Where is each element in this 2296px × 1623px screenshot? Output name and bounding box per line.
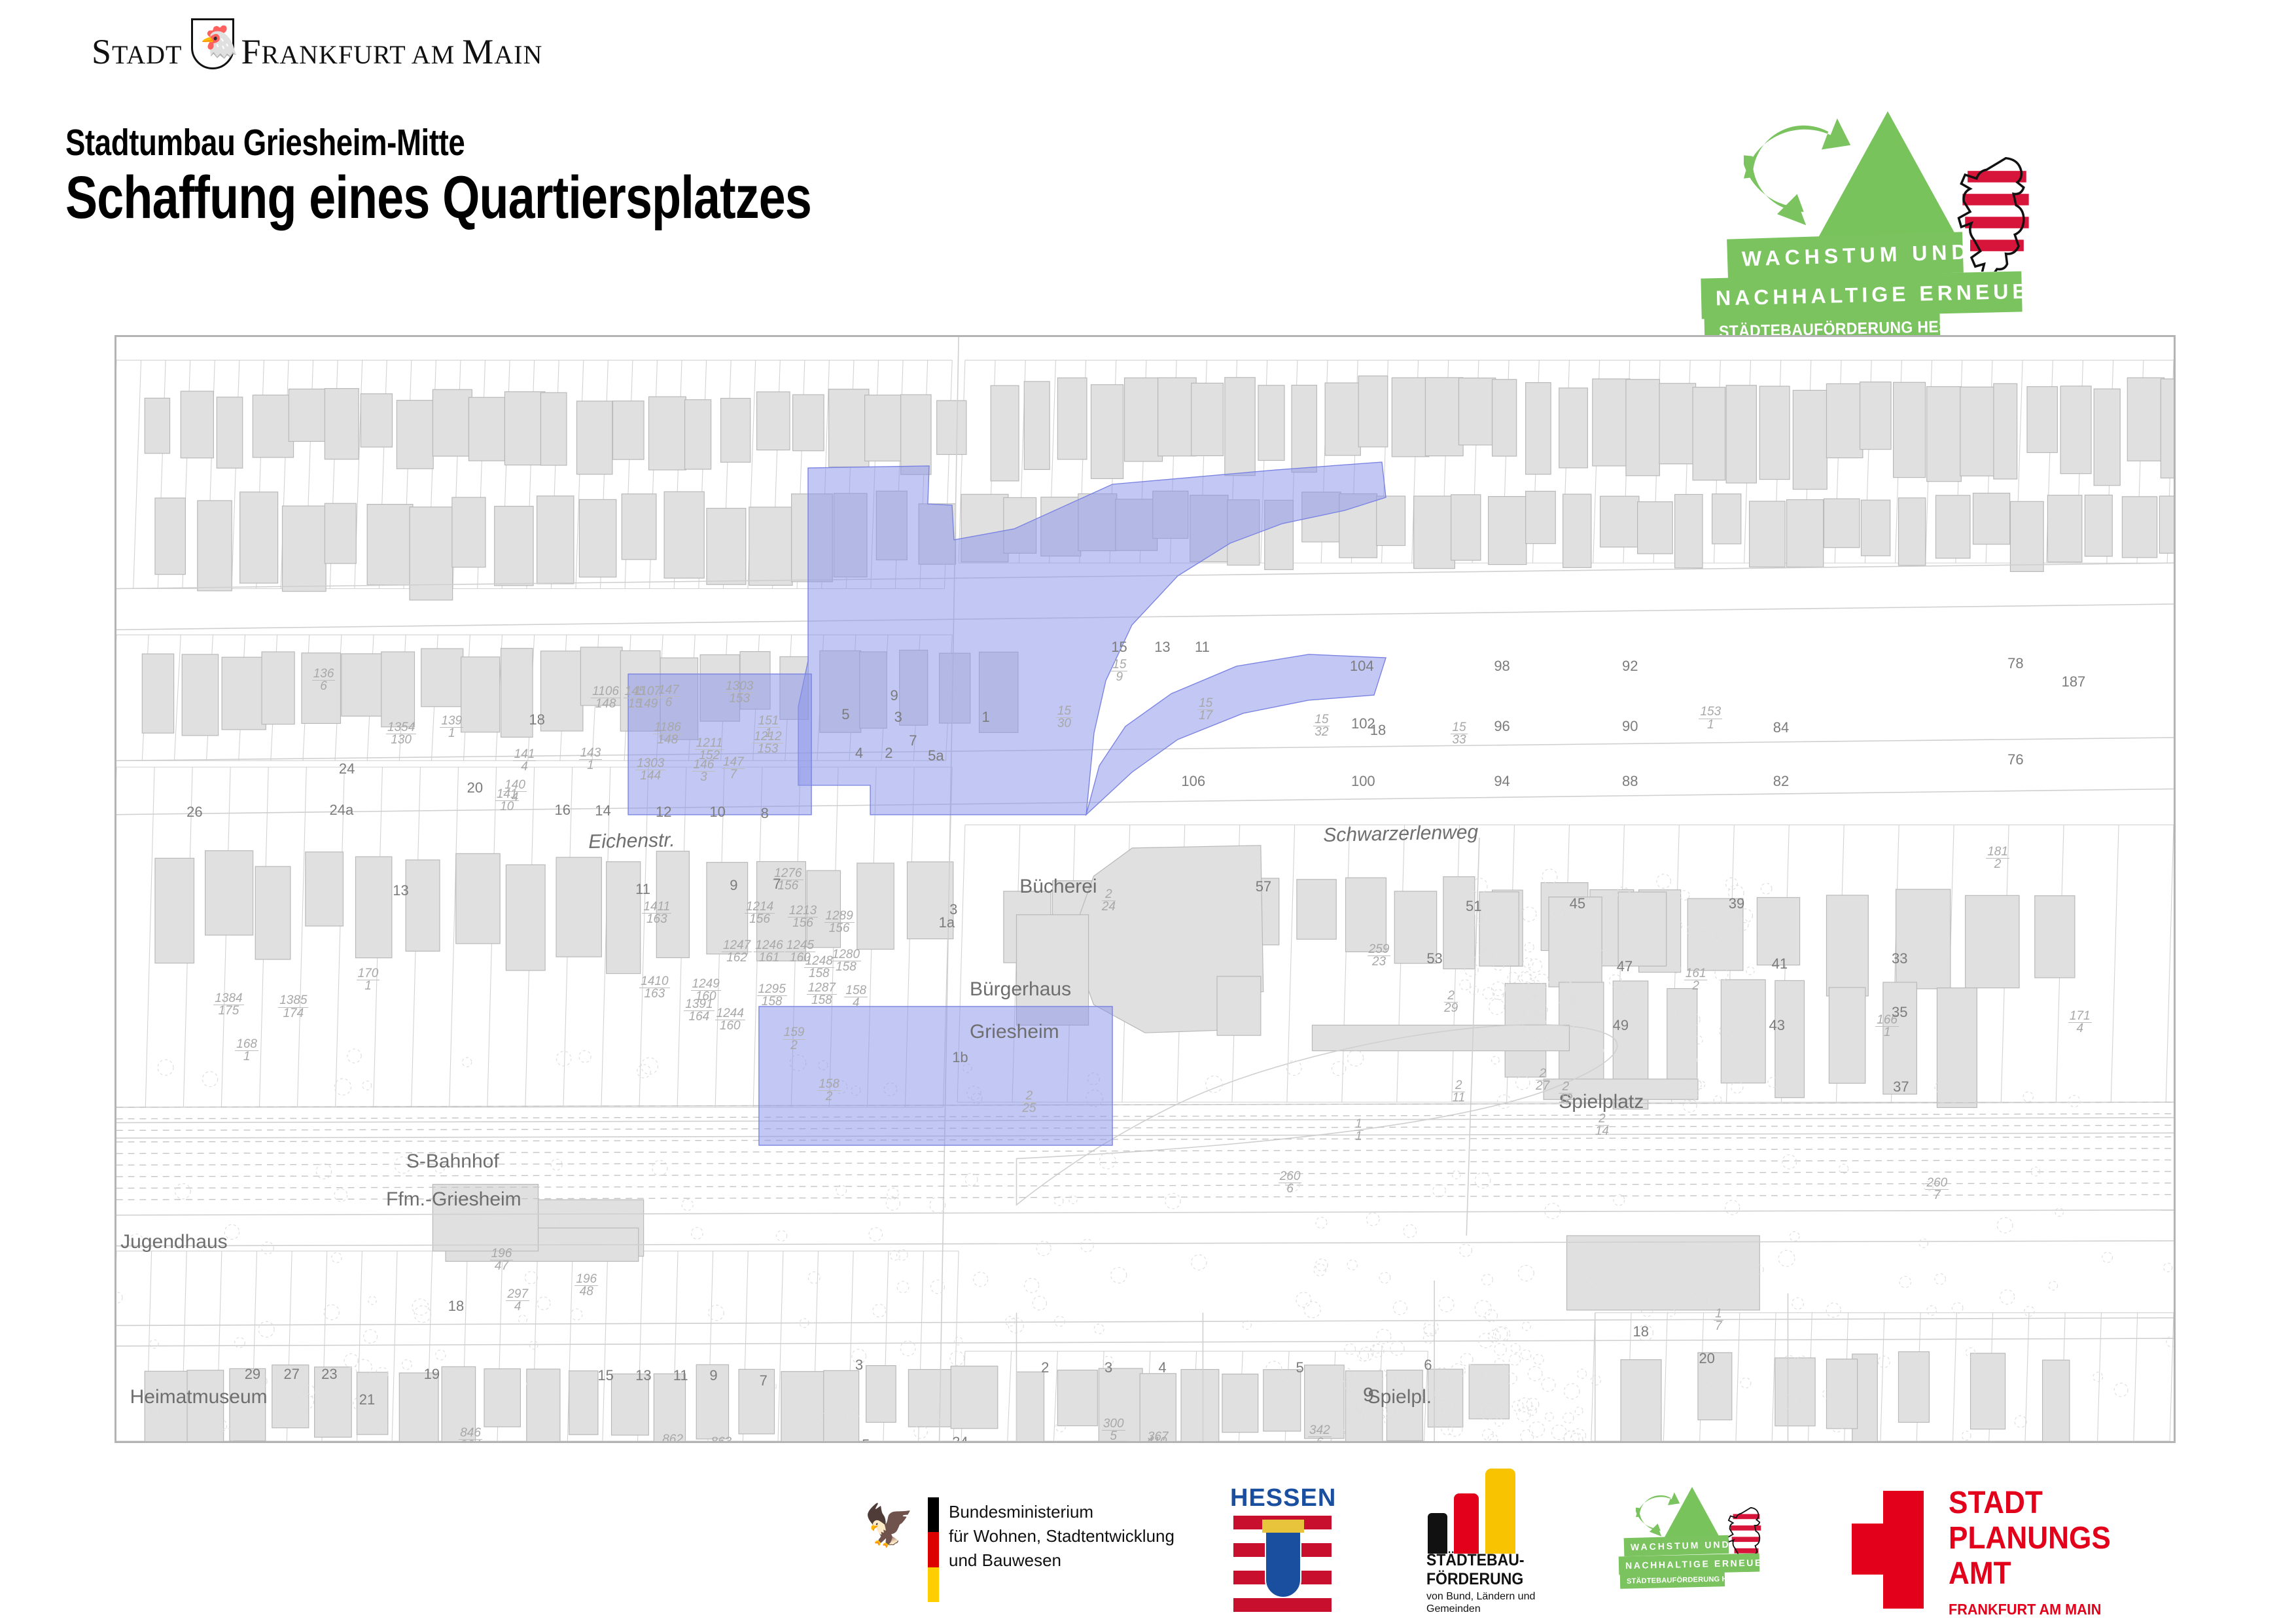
wune-small-line1: WACHSTUM UND	[1624, 1535, 1729, 1556]
house-number: 53	[1426, 950, 1442, 967]
house-number: 18	[1370, 722, 1386, 739]
parcel-number: 1391164	[684, 999, 714, 1023]
parcel-number: 1414	[513, 749, 537, 773]
hessen-label: HESSEN	[1230, 1486, 1335, 1510]
parcel-number: 1463	[692, 759, 716, 783]
parcel-number: 1476	[657, 685, 680, 709]
house-number: 4	[855, 745, 863, 762]
house-number: 6	[1424, 1357, 1432, 1374]
parcel-number: 1384175	[213, 993, 243, 1017]
parcel-number: 1533	[1451, 722, 1467, 746]
house-number: 92	[1622, 658, 1638, 675]
hessen-flag-icon	[1233, 1516, 1332, 1613]
parcel-number: 1411163	[642, 901, 671, 925]
parcel-number: 1280158	[831, 949, 861, 973]
parcel-number: 2607	[1926, 1177, 1949, 1202]
house-number: 187	[2062, 673, 2086, 690]
house-yellow-icon	[1485, 1469, 1515, 1554]
parcel-number: 1106148	[591, 686, 620, 710]
house-number: 26	[186, 804, 202, 821]
parcel-number: 3676	[1146, 1431, 1170, 1443]
parcel-number: 1107149	[633, 686, 662, 710]
cadastral-site-map[interactable]: Eichenstr.SchwarzerlenwegAm Gemeindegart…	[115, 335, 2176, 1443]
parcel-number: 1354130	[386, 722, 416, 746]
parcel-number: 1276156	[773, 868, 803, 892]
house-number: 11	[1195, 639, 1210, 656]
parcel-number: 1214156	[745, 901, 775, 925]
poi-label: Bürgerhaus	[970, 978, 1071, 1001]
poi-label: Ffm.-Griesheim	[386, 1188, 521, 1211]
house-number: 39	[1729, 895, 1744, 912]
house-number: 18	[448, 1298, 464, 1315]
house-number: 5	[841, 706, 849, 723]
parcel-number: 1582	[817, 1079, 841, 1103]
parcel-number: 19648	[574, 1274, 598, 1298]
house-number: 24a	[329, 802, 353, 819]
parcel-number: 862281	[661, 1434, 684, 1443]
parcel-number: 229	[1444, 990, 1458, 1014]
hessen-logo: HESSEN	[1230, 1486, 1335, 1616]
house-number: 3	[1104, 1359, 1112, 1376]
house-number: 82	[1773, 773, 1789, 790]
house-number: 21	[359, 1391, 375, 1408]
parcel-number: 1303144	[635, 758, 665, 782]
house-number: 41	[1772, 955, 1788, 972]
funding-logo-row: 🦅 Bundesministerium für Wohnen, Stadtent…	[0, 1486, 2296, 1623]
house-number: 4	[1158, 1359, 1166, 1376]
house-number: 43	[1769, 1017, 1785, 1034]
house-number: 9	[709, 1367, 717, 1384]
house-number: 15	[597, 1367, 613, 1384]
house-number: 23	[321, 1366, 337, 1383]
parcel-number: 1477	[722, 757, 745, 781]
parcel-number: 1248158	[804, 955, 834, 980]
house-number: 57	[1256, 878, 1271, 895]
parcel-number: 1530	[1056, 705, 1072, 730]
house-number: 18	[529, 711, 544, 728]
parcel-number: 1385174	[278, 995, 308, 1019]
house-number: 12	[656, 804, 671, 821]
wachstum-und-nachhaltige-erneuerung-badge: WACHSTUM UND NACHHALTIGE ERNEUERUNG STÄD…	[1708, 115, 2127, 298]
house-number: 94	[1494, 773, 1510, 790]
german-flag-bar-icon	[928, 1497, 939, 1602]
house-number: 7	[760, 1372, 768, 1389]
parcel-number: 14110	[495, 789, 519, 813]
house-number: 19	[424, 1366, 440, 1383]
parcel-number: 1245160	[785, 940, 815, 964]
parcel-number: 1186148	[653, 722, 682, 746]
parcel-number: 1661	[1875, 1014, 1899, 1039]
house-number: 1a	[939, 914, 955, 931]
parcel-number: 159	[1111, 659, 1127, 683]
poi-label: Heimatmuseum	[130, 1386, 268, 1408]
map-marker-9: 9	[1363, 1384, 1374, 1406]
poi-label: Jugendhaus	[120, 1231, 227, 1253]
parcel-number: 1295158	[757, 984, 787, 1008]
house-number: 51	[1466, 898, 1481, 915]
house-number: 47	[1617, 958, 1633, 975]
parcel-number: 3005	[1102, 1418, 1125, 1442]
house-number: 7	[909, 732, 917, 749]
parcel-number: 211	[1452, 1080, 1465, 1104]
house-number: 33	[1892, 950, 1907, 967]
poi-label: S-Bahnhof	[406, 1150, 499, 1173]
house-number: 34	[952, 1434, 968, 1443]
house-black-icon	[1428, 1513, 1447, 1554]
house-number: 98	[1494, 658, 1510, 675]
parcel-number: 1431	[579, 747, 603, 772]
parcel-number: 1511	[757, 715, 781, 740]
parcel-number: 1532	[1313, 714, 1330, 738]
parcel-number: 1701	[357, 968, 380, 992]
house-red-icon	[1454, 1493, 1479, 1554]
parcel-number: 1244160	[715, 1008, 745, 1032]
house-number: 1b	[952, 1049, 968, 1066]
parcel-number: 3426	[1308, 1425, 1332, 1443]
wune-small-line3: STÄDTEBAUFÖRDERUNG HESSEN	[1620, 1572, 1725, 1589]
wune-banner-line1: WACHSTUM UND	[1727, 232, 1964, 279]
stadtplanungsamt-text: STADT PLANUNGS AMT FRANKFURT AM MAIN	[1949, 1486, 2125, 1618]
parcel-number: 2606	[1279, 1171, 1302, 1195]
parcel-number: 1531	[1699, 706, 1722, 730]
parcel-number: 224	[1102, 889, 1116, 913]
house-number: 90	[1622, 718, 1638, 735]
parcel-number: 1246161	[754, 940, 784, 964]
house-number: 14	[595, 802, 610, 819]
house-number: 5	[1296, 1359, 1304, 1376]
house-number: 8	[761, 805, 769, 822]
parcel-number: 847266	[490, 1442, 514, 1443]
house-number: 84	[1773, 719, 1789, 736]
parcel-number: 2974	[506, 1289, 529, 1313]
staedtebau-subtitle: von Bund, Ländern und Gemeinden	[1426, 1590, 1535, 1615]
stadtplanungsamt-logo: STADT PLANUNGS AMT FRANKFURT AM MAIN	[1852, 1486, 2192, 1616]
house-number: 13	[1154, 639, 1170, 656]
poi-label: Spielplatz	[1559, 1091, 1644, 1113]
parcel-number: 1714	[2068, 1010, 2092, 1035]
parcel-number: 212	[1559, 1081, 1572, 1105]
parcel-number: 1211152	[695, 738, 724, 762]
city-logo-text: STADT FRANKFURT AM MAIN	[92, 31, 542, 72]
parcel-number: 11	[1354, 1118, 1364, 1143]
poi-label: Spielpl.	[1368, 1386, 1432, 1408]
house-number: 37	[1893, 1079, 1909, 1096]
parcel-number: 1517	[1197, 698, 1214, 722]
page-title: Schaffung eines Quartiersplatzes	[65, 164, 811, 232]
parcel-number: 1303153	[724, 681, 754, 705]
house-number: 24	[339, 760, 355, 777]
poi-label: Griesheim	[970, 1021, 1059, 1043]
parcel-number: 1584	[844, 985, 868, 1009]
parcel-number: 863283	[709, 1436, 733, 1443]
parcel-number: 4105	[1145, 1436, 1169, 1443]
house-number: 106	[1181, 773, 1205, 790]
parcel-number: 214	[1595, 1113, 1609, 1137]
house-number: 96	[1494, 718, 1510, 735]
house-number: 11	[635, 881, 650, 898]
staedtebau-title: STÄDTEBAU- FÖRDERUNG	[1426, 1551, 1525, 1589]
parcel-number: 227	[1536, 1068, 1549, 1092]
wune-small-logo: WACHSTUM UND NACHHALTIGE ERNEUERUNG STÄD…	[1629, 1486, 1819, 1616]
house-number: 100	[1351, 773, 1375, 790]
parcel-number: 1212153	[752, 731, 783, 755]
house-number: 1	[982, 709, 990, 726]
house-number: 10	[709, 804, 725, 821]
house-number: 102	[1351, 715, 1375, 732]
parcel-number: 19647	[490, 1248, 514, 1272]
house-number: 78	[2007, 655, 2023, 672]
parcel-number: 1213156	[788, 905, 818, 929]
house-number: 16	[555, 802, 571, 819]
house-number: 2	[885, 745, 892, 762]
house-number: 15	[1111, 639, 1127, 656]
house-number: 20	[467, 779, 483, 796]
house-number: 88	[1622, 773, 1638, 790]
parcel-number: 1249160	[691, 978, 721, 1003]
house-number: 3	[855, 1357, 863, 1374]
parcel-number: 17	[1714, 1308, 1723, 1332]
house-number: 13	[635, 1367, 651, 1384]
street-label: Eichenstr.	[588, 829, 675, 853]
stadtplanungsamt-mark-icon	[1852, 1491, 1924, 1609]
parcel-number: 25923	[1368, 944, 1391, 968]
parcel-number: 1681	[235, 1039, 258, 1063]
parcel-number: 1391	[440, 715, 463, 740]
house-number: 29	[245, 1366, 260, 1383]
parcel-number: 1404	[503, 779, 527, 804]
staedtebaufoerderung-logo: STÄDTEBAU- FÖRDERUNG von Bund, Ländern u…	[1413, 1486, 1597, 1616]
house-number: 5	[862, 1436, 870, 1443]
house-number: 13	[393, 882, 408, 899]
parcel-number: 1612	[1684, 968, 1708, 992]
house-number: 45	[1570, 895, 1585, 912]
bundesadler-icon: 🦅	[864, 1500, 912, 1552]
parcel-number: 846264	[459, 1427, 482, 1443]
house-number: 18	[1633, 1323, 1649, 1340]
parcel-number: 1289156	[824, 910, 855, 935]
house-number: 104	[1350, 658, 1374, 675]
house-number: 9	[730, 877, 737, 894]
wune-banner-line2: NACHHALTIGE ERNEUERUNG	[1701, 271, 2022, 319]
street-label: Schwarzerlenweg	[1323, 821, 1478, 847]
parcel-number: 1247162	[722, 940, 752, 964]
parcel-number: 1812	[1986, 846, 2009, 870]
parcel-number: 1410163	[639, 976, 669, 1000]
house-number: 11	[673, 1367, 688, 1384]
house-number: 27	[283, 1366, 299, 1383]
bmwsb-logo: 🦅 Bundesministerium für Wohnen, Stadtent…	[864, 1486, 1171, 1610]
parcel-number: 1592	[783, 1027, 806, 1051]
house-number: 5a	[928, 747, 944, 764]
parcel-number: 1287158	[807, 982, 837, 1007]
house-number: 3	[894, 709, 902, 726]
poi-label: Bücherei	[1019, 876, 1097, 898]
house-number: 3	[949, 901, 957, 918]
house-number: 20	[1699, 1350, 1714, 1367]
house-number: 35	[1892, 1004, 1907, 1021]
house-number: 76	[2007, 751, 2023, 768]
parcel-number: 225	[1022, 1090, 1036, 1115]
parcel-number: 14515	[624, 686, 647, 710]
bmwsb-name: Bundesministerium für Wohnen, Stadtentwi…	[949, 1500, 1174, 1573]
house-number: 7	[773, 876, 781, 893]
wune-small-line2: NACHHALTIGE ERNEUERUNG	[1619, 1554, 1760, 1575]
project-subtitle: Stadtumbau Griesheim-Mitte	[65, 121, 465, 164]
house-number: 49	[1613, 1017, 1629, 1034]
house-number: 2	[1041, 1359, 1049, 1376]
house-number: 9	[890, 687, 898, 704]
parcel-number: 1366	[312, 668, 336, 692]
city-of-frankfurt-logo: 🐔 STADT FRANKFURT AM MAIN	[92, 26, 510, 79]
